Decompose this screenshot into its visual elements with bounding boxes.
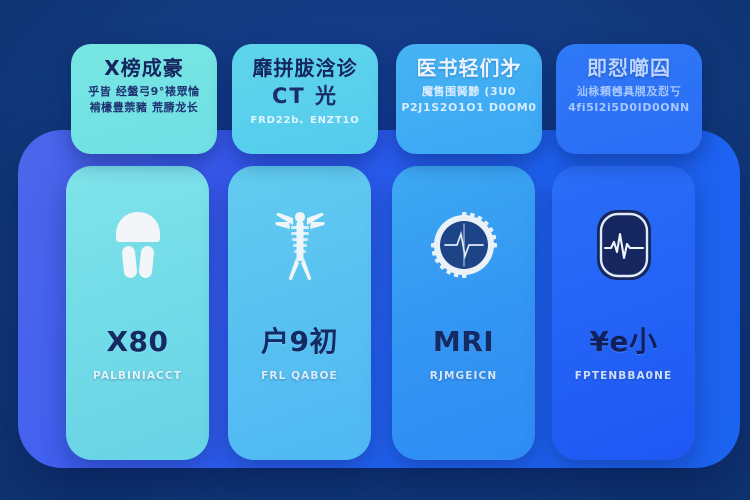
header-line: 魔售围胬黪 (3U0 [422, 86, 516, 98]
card-title: 户9初 [261, 328, 338, 356]
xray-body-icon [102, 206, 174, 284]
header-line: FRD22b、ENZT1O [250, 115, 359, 126]
header-line: 褃檺豊萗豬 荒膌龙长 [90, 102, 199, 114]
card-title: ¥e小 [590, 328, 658, 356]
card-title: X80 [106, 328, 168, 356]
card-ct[interactable]: 户9初 FRL QABOE [228, 166, 371, 460]
gear-badge-icon [428, 206, 500, 284]
header-xray[interactable]: X榜成豪 乎皆 经螌弓9°裱眾惀 褃檺豊萗豬 荒膌龙长 [71, 44, 217, 154]
header-lines: 汕栐頼乸具覑及㤠丂 4fi5l2i5D0ID0ONN [568, 86, 690, 114]
header-title: 靡拼胈浛诊 [253, 58, 358, 79]
card-xray[interactable]: X80 PALBINIACCT [66, 166, 209, 460]
header-line: 4fi5l2i5D0ID0ONN [568, 102, 690, 114]
card-subtitle: RJMGEICN [430, 370, 497, 382]
header-monitor[interactable]: 即㤠㘉囜 汕栐頼乸具覑及㤠丂 4fi5l2i5D0ID0ONN [556, 44, 702, 154]
card-subtitle: PALBINIACCT [93, 370, 182, 382]
skeleton-spine-icon [264, 206, 336, 284]
header-lines: 魔售围胬黪 (3U0 P2J1S2O1O1 D0OM0 [401, 86, 536, 114]
header-line: 汕栐頼乸具覑及㤠丂 [577, 86, 681, 98]
ecg-monitor-icon [588, 206, 660, 284]
card-title: MRI [433, 328, 494, 356]
header-line: P2J1S2O1O1 D0OM0 [401, 102, 536, 114]
header-ct[interactable]: 靡拼胈浛诊 CT 光 FRD22b、ENZT1O [232, 44, 378, 154]
header-lines: FRD22b、ENZT1O [250, 115, 359, 126]
card-subtitle: FRL QABOE [261, 370, 338, 382]
header-title: 即㤠㘉囜 [587, 58, 671, 79]
header-lines: 乎皆 经螌弓9°裱眾惀 褃檺豊萗豬 荒膌龙长 [88, 86, 200, 114]
header-title: X榜成豪 [104, 58, 183, 79]
card-mri[interactable]: MRI RJMGEICN [392, 166, 535, 460]
header-mri[interactable]: 医书轻们㐧 魔售围胬黪 (3U0 P2J1S2O1O1 D0OM0 [396, 44, 542, 154]
header-title: 医书轻们㐧 [417, 58, 522, 79]
screenshot-stage: X80 PALBINIACCT [0, 0, 750, 500]
card-monitor[interactable]: ¥e小 FPTENBBA0NE [552, 166, 695, 460]
header-line: 乎皆 经螌弓9°裱眾惀 [88, 86, 200, 98]
header-midtext: CT 光 [272, 85, 338, 108]
card-subtitle: FPTENBBA0NE [575, 370, 673, 382]
